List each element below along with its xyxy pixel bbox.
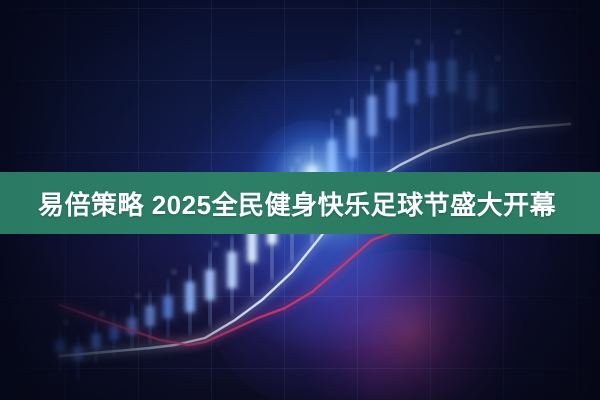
headline-band: 易倍策略 2025全民健身快乐足球节盛大开幕 — [0, 172, 600, 234]
page-title: 易倍策略 2025全民健身快乐足球节盛大开幕 — [38, 185, 556, 222]
banner-image: 易倍策略 2025全民健身快乐足球节盛大开幕 — [0, 0, 600, 400]
